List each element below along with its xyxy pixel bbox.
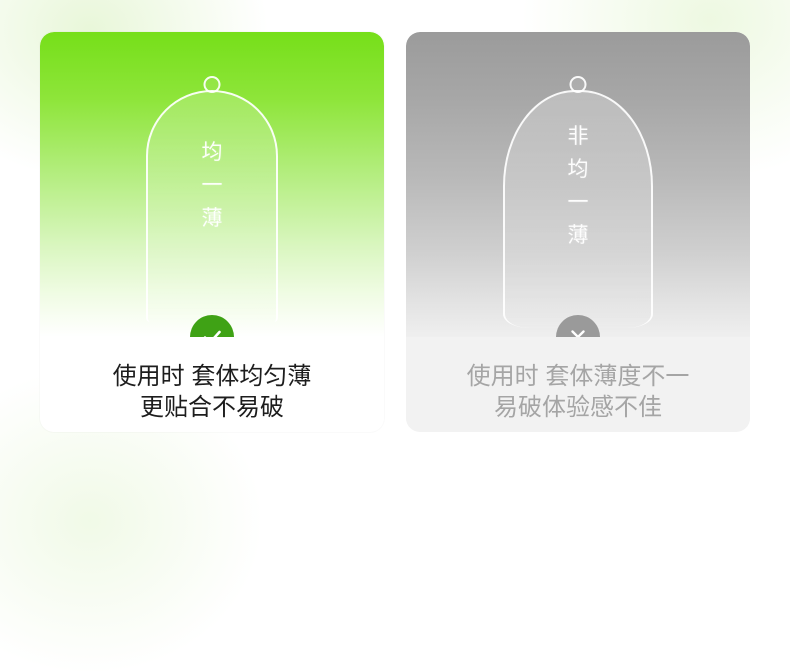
caption-bad-line2: 易破体验感不佳 [494,393,662,424]
vertical-label-bad-char-0: 非 [568,126,589,147]
comparison-card-bad: 非 均 一 薄 使用时 套体薄度不一 易破体验感不佳 [406,32,750,432]
caption-good-line1: 使用时 套体均匀薄 [113,362,312,393]
illustration-bad: 非 均 一 薄 [406,32,750,337]
vertical-label-good-char-0: 均 [202,142,223,163]
vertical-label-good: 均 一 薄 [202,136,223,235]
vertical-label-bad: 非 均 一 薄 [568,120,589,252]
illustration-good: 均 一 薄 [40,32,384,337]
cross-icon [567,326,589,337]
comparison-page: 均 一 薄 使用时 套体均匀薄 更贴合不易破 非 均 [0,0,790,531]
vertical-label-bad-char-2: 一 [568,192,589,213]
vertical-label-bad-char-1: 均 [568,159,589,180]
caption-good: 使用时 套体均匀薄 更贴合不易破 [40,337,384,432]
comparison-card-good: 均 一 薄 使用时 套体均匀薄 更贴合不易破 [40,32,384,432]
check-icon [200,325,224,337]
caption-bad: 使用时 套体薄度不一 易破体验感不佳 [406,337,750,432]
vertical-label-good-char-1: 一 [202,175,223,196]
vertical-label-good-char-2: 薄 [202,208,223,229]
caption-bad-line1: 使用时 套体薄度不一 [467,362,690,393]
caption-good-line2: 更贴合不易破 [140,393,284,424]
vertical-label-bad-char-3: 薄 [568,225,589,246]
